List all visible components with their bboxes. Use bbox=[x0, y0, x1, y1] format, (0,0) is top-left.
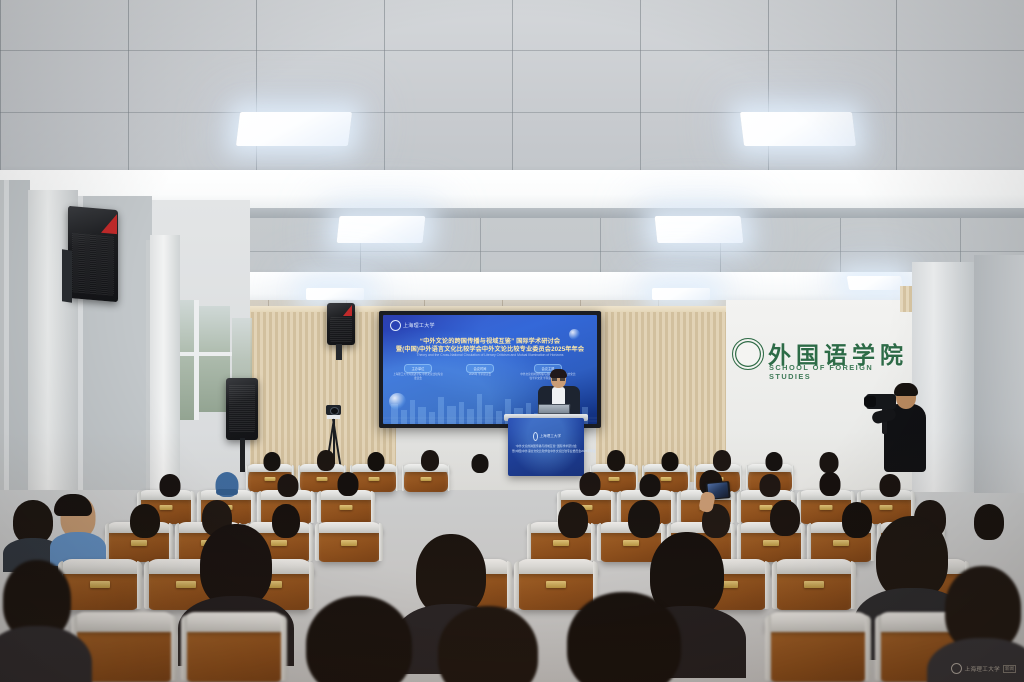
audience-member bbox=[196, 524, 276, 616]
audience-member bbox=[276, 474, 300, 500]
audience-member bbox=[128, 504, 162, 542]
seat-number-plate bbox=[340, 505, 353, 510]
audience-member bbox=[366, 452, 386, 474]
ceiling-tile-grid-upper bbox=[0, 0, 1024, 175]
audience-member bbox=[0, 560, 74, 682]
podium-logo-text: 上海理工大学 bbox=[539, 434, 561, 439]
audience-member bbox=[470, 454, 490, 476]
led-panel-light bbox=[652, 288, 710, 300]
seat-number-plate bbox=[369, 477, 380, 481]
speaker-stand bbox=[240, 438, 245, 472]
screen-chip-detail: 2025年 学术研讨会 bbox=[454, 373, 506, 377]
audience-member bbox=[878, 474, 902, 500]
podium-banner-line2: 暨(中国)中外语言文化比较学会中外文论比较专业委员会2025年年会 bbox=[512, 449, 580, 453]
camera-lens-icon bbox=[330, 407, 339, 415]
screen-chip-detail: 中外文论的跨国传播与视域互鉴 中外语言文化比较学术交流 学科建设与人才培养 bbox=[520, 373, 576, 381]
right-column-outer bbox=[974, 255, 1024, 493]
podium-university-logo: 上海理工大学 bbox=[533, 432, 561, 440]
seat-number-plate bbox=[265, 477, 276, 481]
floor-speaker bbox=[226, 378, 258, 440]
decorative-orb bbox=[389, 393, 406, 410]
screen-chip-detail: 上海理工大学外国语学院 中外文论比较专业委员会 bbox=[392, 373, 444, 381]
seat-number-plate bbox=[820, 505, 833, 510]
watermark-badge: 新闻 bbox=[1003, 665, 1016, 673]
audience-member bbox=[758, 474, 782, 500]
laptop-screen bbox=[539, 405, 569, 413]
university-seal-icon bbox=[390, 320, 401, 331]
seat-number-plate bbox=[341, 540, 357, 546]
curtain bbox=[0, 180, 30, 490]
seat-number-plate bbox=[421, 477, 432, 481]
audience-member bbox=[262, 452, 282, 474]
audience-member bbox=[972, 504, 1006, 544]
audience-member bbox=[840, 502, 874, 542]
seat-number-plate bbox=[880, 505, 893, 510]
audience-member bbox=[818, 472, 842, 500]
wall-speaker-center bbox=[327, 303, 355, 345]
seat-number-plate bbox=[804, 581, 824, 588]
seat-number-plate bbox=[661, 477, 672, 481]
audience-member bbox=[300, 596, 418, 682]
audience-member bbox=[764, 452, 784, 474]
presenter-hair bbox=[550, 369, 567, 378]
wall-sign: 外国语学院 SCHOOL OF FOREIGN STUDIES bbox=[732, 336, 910, 378]
audience-member bbox=[420, 450, 440, 474]
led-panel-light bbox=[236, 112, 352, 146]
screen-chip: 会议时间 bbox=[466, 364, 494, 373]
seat-number-plate bbox=[546, 581, 566, 588]
photo-watermark: 上海理工大学 新闻 bbox=[951, 663, 1016, 674]
seal-icon bbox=[951, 663, 962, 674]
audience-member bbox=[316, 450, 336, 474]
audience-member bbox=[158, 474, 182, 500]
seat[interactable] bbox=[318, 524, 380, 562]
audience-member bbox=[10, 500, 56, 550]
audience-member bbox=[872, 516, 952, 608]
led-panel-light bbox=[740, 112, 856, 146]
audience-member bbox=[336, 472, 360, 500]
audience-member bbox=[768, 500, 802, 540]
speaker-mount-bracket bbox=[336, 344, 342, 360]
audience-member bbox=[432, 606, 544, 682]
lecture-hall-photo: 上海理工大学 “中外文论的跨国传播与视域互鉴” 国际学术研讨会 暨(中国)中外语… bbox=[0, 0, 1024, 682]
seat[interactable] bbox=[186, 616, 282, 682]
university-seal-icon bbox=[533, 432, 538, 441]
audience-member bbox=[638, 474, 662, 500]
seat[interactable] bbox=[770, 616, 866, 682]
cap-brim-icon bbox=[216, 489, 238, 495]
seat-number-plate bbox=[609, 477, 620, 481]
screen-university-logo: 上海理工大学 bbox=[390, 320, 452, 331]
podium-banner-line1: “中外文论的跨国传播与视域互鉴” 国际学术研讨会 bbox=[512, 444, 580, 448]
audience-member bbox=[560, 592, 688, 682]
seat[interactable] bbox=[776, 562, 852, 610]
screen-title-line2: 暨(中国)中外语言文化比较学会中外文论比较专业委员会2025年年会 bbox=[383, 344, 597, 353]
audience-member bbox=[606, 450, 626, 474]
hair bbox=[54, 494, 92, 516]
led-panel-light bbox=[655, 216, 744, 243]
screen-logo-text: 上海理工大学 bbox=[403, 322, 435, 329]
window-mullion bbox=[194, 300, 199, 420]
screen-subtitle-en: Theory and the Cross-National Circulatio… bbox=[383, 353, 597, 357]
camera-lens-icon bbox=[864, 396, 876, 407]
videographer-hair bbox=[894, 383, 918, 396]
audience-member bbox=[578, 472, 602, 500]
wall-pillar bbox=[150, 235, 180, 490]
seat-number-plate bbox=[90, 581, 110, 588]
watermark-text: 上海理工大学 bbox=[965, 665, 1000, 673]
audience-member bbox=[214, 472, 240, 500]
led-panel-light bbox=[847, 276, 903, 290]
led-panel-light bbox=[306, 288, 364, 300]
seat-number-plate bbox=[176, 581, 196, 588]
wall-speaker-left bbox=[68, 206, 118, 302]
led-panel-light bbox=[337, 216, 426, 243]
seat-number-plate bbox=[763, 540, 779, 546]
wall-sign-english: SCHOOL OF FOREIGN STUDIES bbox=[769, 363, 910, 381]
seat-number-plate bbox=[317, 477, 328, 481]
glasses-icon bbox=[552, 378, 565, 381]
university-crest-icon bbox=[732, 338, 764, 370]
audience-member bbox=[556, 502, 590, 542]
audience-member bbox=[58, 496, 98, 544]
audience-member bbox=[660, 452, 680, 474]
screen-chip: 主办单位 bbox=[404, 364, 432, 373]
speaker-mount-bracket bbox=[62, 249, 72, 302]
